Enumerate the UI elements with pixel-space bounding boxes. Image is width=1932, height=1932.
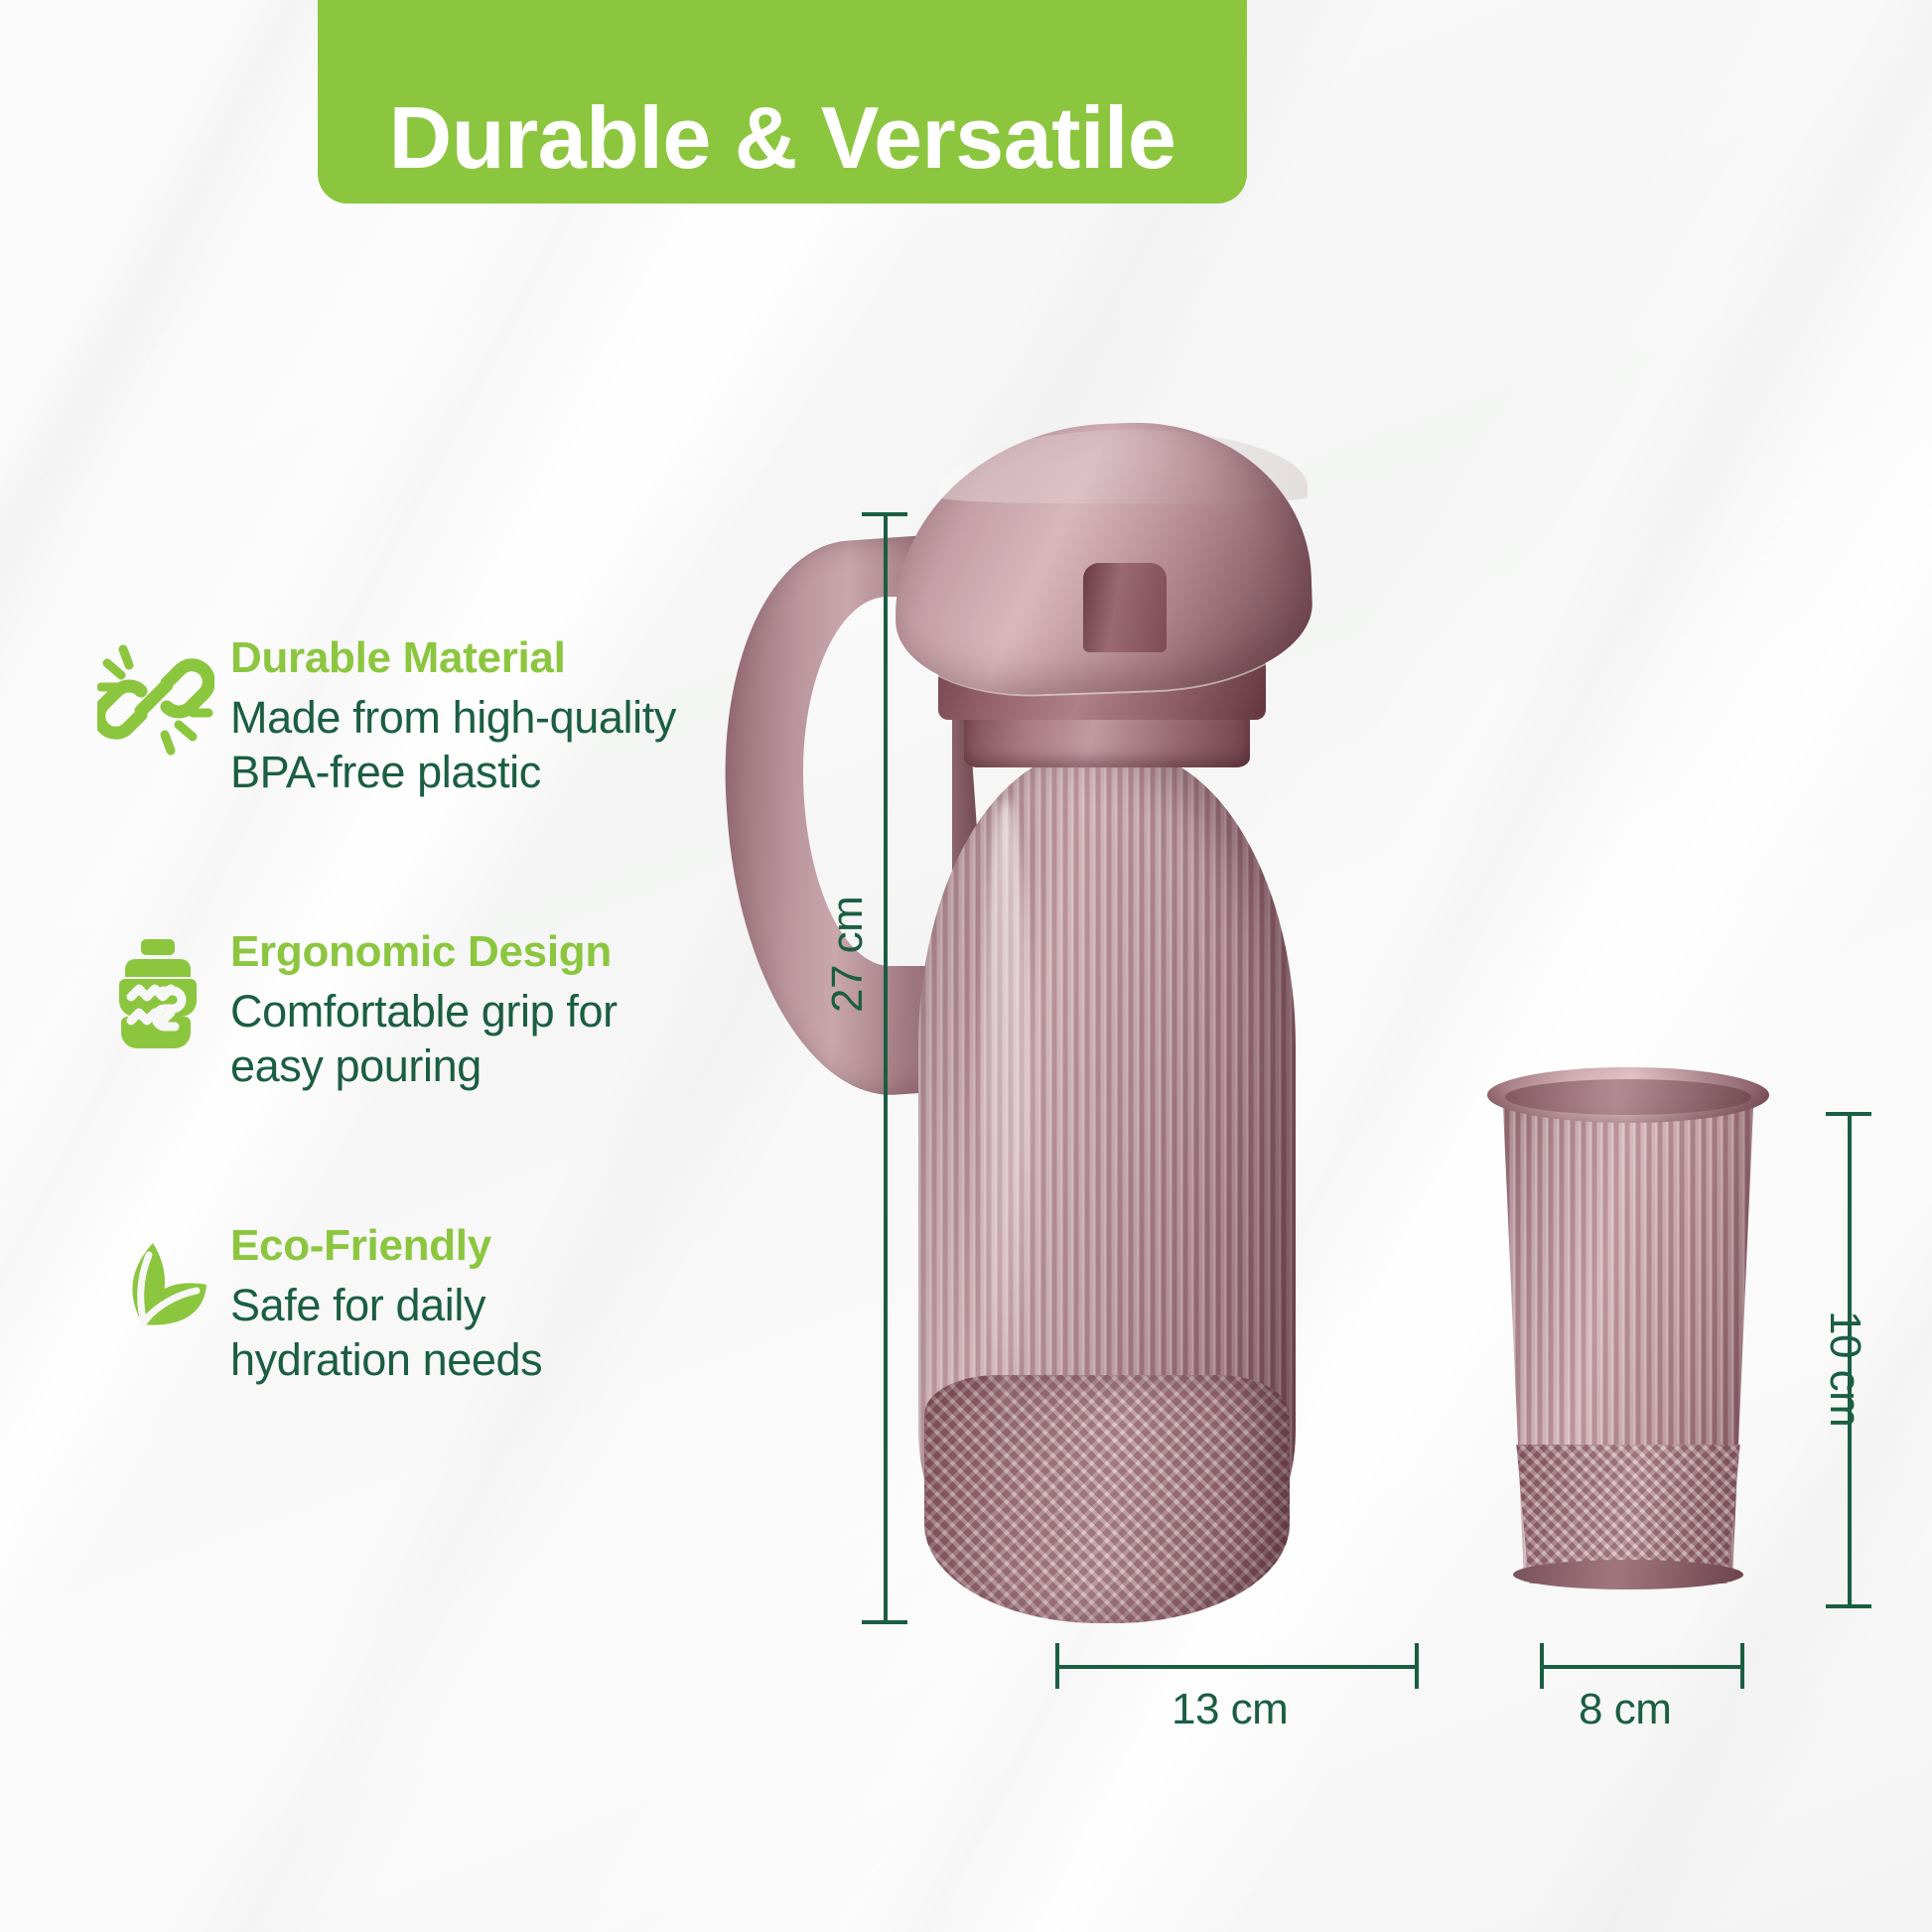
feature-list: Durable Material Made from high-quality … xyxy=(91,635,727,1517)
dimension-cap-right xyxy=(1415,1643,1419,1689)
dimension-label-glass-width: 8 cm xyxy=(1579,1688,1671,1731)
dimension-cap-left xyxy=(1540,1643,1544,1689)
feature-body: Made from high-quality BPA-free plastic xyxy=(230,691,727,800)
feature-item-eco-friendly: Eco-Friendly Safe for daily hydration ne… xyxy=(91,1223,727,1388)
header-banner: Durable & Versatile xyxy=(318,0,1247,204)
dimension-cap-right xyxy=(1740,1643,1744,1689)
dimension-label-pitcher-height: 27 cm xyxy=(826,897,870,1013)
leaves-icon xyxy=(91,1223,220,1346)
dimension-cap-top xyxy=(1826,1112,1871,1116)
banner-title: Durable & Versatile xyxy=(389,94,1176,182)
feature-item-durable-material: Durable Material Made from high-quality … xyxy=(91,635,727,800)
dimension-cap-bottom xyxy=(862,1620,907,1624)
dimension-label-pitcher-width: 13 cm xyxy=(1172,1688,1288,1731)
feature-heading: Eco-Friendly xyxy=(230,1223,727,1269)
dimension-label-glass-height: 10 cm xyxy=(1823,1311,1866,1427)
dimension-cap-bottom xyxy=(1826,1604,1871,1608)
dimension-line-pitcher-height xyxy=(884,512,888,1624)
feature-body: Comfortable grip for easy pouring xyxy=(230,985,727,1094)
feature-heading: Durable Material xyxy=(230,635,727,681)
chain-link-icon xyxy=(91,635,220,759)
dimension-cap-top xyxy=(862,512,907,516)
dimension-line-pitcher-width xyxy=(1055,1665,1419,1669)
dimension-cap-left xyxy=(1055,1643,1059,1689)
hand-grip-pitcher-icon xyxy=(91,929,220,1052)
feature-body: Safe for daily hydration needs xyxy=(230,1279,727,1388)
feature-item-ergonomic-design: Ergonomic Design Comfortable grip for ea… xyxy=(91,929,727,1094)
dimension-line-glass-width xyxy=(1540,1665,1744,1669)
feature-heading: Ergonomic Design xyxy=(230,929,727,975)
